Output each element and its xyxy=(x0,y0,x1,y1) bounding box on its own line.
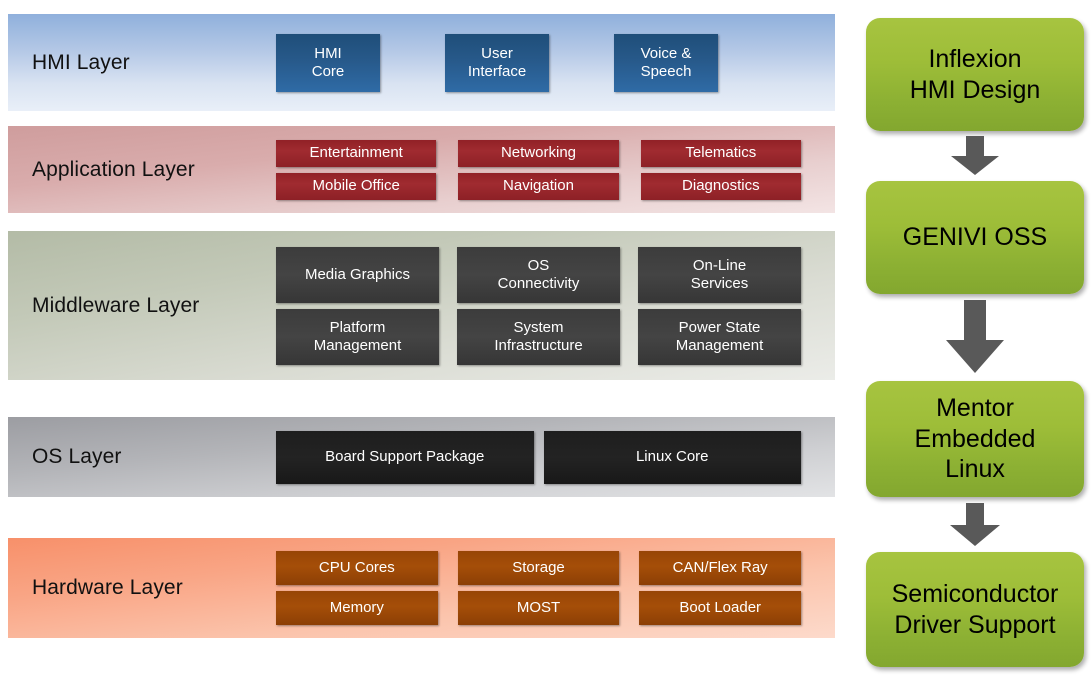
box-row: Board Support Package Linux Core xyxy=(276,431,801,484)
node-label-line1: Voice & xyxy=(641,45,692,62)
layer-panel-os: OS Layer Board Support Package Linux Cor… xyxy=(8,417,835,497)
layer-boxes-hardware: CPU Cores Storage CAN/Flex Ray Memory MO… xyxy=(276,551,835,625)
flow-node-label-line2: HMI Design xyxy=(910,76,1041,104)
node-media-graphics[interactable]: Media Graphics xyxy=(276,247,439,303)
flow-node-semiconductor-driver-support[interactable]: Semiconductor Driver Support xyxy=(866,552,1084,667)
node-telematics[interactable]: Telematics xyxy=(641,140,801,167)
flow-node-label: Mentor Embedded Linux xyxy=(915,393,1036,485)
flow-node-label-line2: Driver Support xyxy=(894,611,1055,639)
node-linux-core[interactable]: Linux Core xyxy=(544,431,802,484)
node-platform-management[interactable]: Platform Management xyxy=(276,309,439,365)
product-flow-column: Inflexion HMI Design GENIVI OSS Mentor E… xyxy=(866,12,1084,674)
layer-title-hardware: Hardware Layer xyxy=(8,576,276,600)
node-label: System Infrastructure xyxy=(494,319,582,354)
node-cpu-cores[interactable]: CPU Cores xyxy=(276,551,438,585)
box-row: Media Graphics OS Connectivity On-Line S… xyxy=(276,247,801,303)
node-can-flex-ray[interactable]: CAN/Flex Ray xyxy=(639,551,801,585)
box-row: Platform Management System Infrastructur… xyxy=(276,309,801,365)
layer-panel-application: Application Layer Entertainment Networki… xyxy=(8,126,835,213)
node-label-line2: Interface xyxy=(468,63,526,80)
node-power-state-management[interactable]: Power State Management xyxy=(638,309,801,365)
node-voice-speech[interactable]: Voice & Speech xyxy=(614,34,718,92)
node-system-infrastructure[interactable]: System Infrastructure xyxy=(457,309,620,365)
node-networking[interactable]: Networking xyxy=(458,140,618,167)
node-navigation[interactable]: Navigation xyxy=(458,173,618,200)
layer-title-os: OS Layer xyxy=(8,445,276,469)
flow-node-label-line1: Mentor xyxy=(936,394,1014,422)
node-online-services[interactable]: On-Line Services xyxy=(638,247,801,303)
flow-node-genivi-oss[interactable]: GENIVI OSS xyxy=(866,181,1084,294)
node-label-line2: Infrastructure xyxy=(494,337,582,354)
node-label-line1: OS xyxy=(528,257,550,274)
node-boot-loader[interactable]: Boot Loader xyxy=(639,591,801,625)
flow-node-label: Inflexion HMI Design xyxy=(910,44,1041,105)
layer-boxes-os: Board Support Package Linux Core xyxy=(276,431,835,484)
flow-node-label: Semiconductor Driver Support xyxy=(892,579,1059,640)
node-label-line1: HMI xyxy=(314,45,342,62)
flow-node-label-line1: Semiconductor xyxy=(892,580,1059,608)
node-label-line1: User xyxy=(481,45,513,62)
box-row: Entertainment Networking Telematics xyxy=(276,140,801,167)
down-arrow-icon xyxy=(866,499,1084,551)
flow-node-label-line2: Embedded xyxy=(915,425,1036,453)
node-label: User Interface xyxy=(468,45,526,80)
node-label: OS Connectivity xyxy=(498,257,580,292)
layer-boxes-middleware: Media Graphics OS Connectivity On-Line S… xyxy=(276,247,835,365)
node-most[interactable]: MOST xyxy=(458,591,620,625)
node-memory[interactable]: Memory xyxy=(276,591,438,625)
box-row: CPU Cores Storage CAN/Flex Ray xyxy=(276,551,801,585)
node-mobile-office[interactable]: Mobile Office xyxy=(276,173,436,200)
node-label-line1: System xyxy=(513,319,563,336)
down-arrow-icon xyxy=(866,295,1084,379)
flow-node-label-line1: GENIVI OSS xyxy=(903,223,1047,251)
node-label: Platform Management xyxy=(314,319,402,354)
node-label-line2: Management xyxy=(314,337,402,354)
node-label-line2: Speech xyxy=(641,63,692,80)
flow-node-label: GENIVI OSS xyxy=(903,222,1047,253)
node-label-line2: Core xyxy=(312,63,345,80)
node-label: Voice & Speech xyxy=(641,45,692,80)
box-row: HMI Core User Interface Voice & Speech xyxy=(276,34,801,92)
node-diagnostics[interactable]: Diagnostics xyxy=(641,173,801,200)
flow-node-mentor-embedded-linux[interactable]: Mentor Embedded Linux xyxy=(866,381,1084,497)
box-row: Memory MOST Boot Loader xyxy=(276,591,801,625)
layer-panel-hmi: HMI Layer HMI Core User Interface xyxy=(8,14,835,111)
node-entertainment[interactable]: Entertainment xyxy=(276,140,436,167)
node-label-line1: Power State xyxy=(679,319,761,336)
node-label-line2: Connectivity xyxy=(498,275,580,292)
layer-panel-middleware: Middleware Layer Media Graphics OS Conne… xyxy=(8,231,835,380)
layer-title-application: Application Layer xyxy=(8,158,276,182)
layer-panel-hardware: Hardware Layer CPU Cores Storage CAN/Fle… xyxy=(8,538,835,638)
layer-boxes-application: Entertainment Networking Telematics Mobi… xyxy=(276,140,835,200)
node-os-connectivity[interactable]: OS Connectivity xyxy=(457,247,620,303)
node-label-line1: On-Line xyxy=(693,257,746,274)
node-label-line1: Media Graphics xyxy=(305,266,410,283)
layer-title-middleware: Middleware Layer xyxy=(8,294,276,318)
flow-node-label-line3: Linux xyxy=(945,455,1005,483)
stack-diagram: HMI Layer HMI Core User Interface xyxy=(0,0,1092,686)
down-arrow-icon xyxy=(866,132,1084,180)
node-label: HMI Core xyxy=(312,45,345,80)
node-board-support-package[interactable]: Board Support Package xyxy=(276,431,534,484)
node-label: On-Line Services xyxy=(691,257,749,292)
node-label-line2: Services xyxy=(691,275,749,292)
node-storage[interactable]: Storage xyxy=(458,551,620,585)
flow-node-label-line1: Inflexion xyxy=(928,45,1021,73)
node-user-interface[interactable]: User Interface xyxy=(445,34,549,92)
layer-boxes-hmi: HMI Core User Interface Voice & Speech xyxy=(276,34,835,92)
node-label: Power State Management xyxy=(676,319,764,354)
node-hmi-core[interactable]: HMI Core xyxy=(276,34,380,92)
node-label-line2: Management xyxy=(676,337,764,354)
node-label: Media Graphics xyxy=(305,266,410,284)
layer-title-hmi: HMI Layer xyxy=(8,51,276,75)
node-label-line1: Platform xyxy=(330,319,386,336)
flow-node-inflexion-hmi-design[interactable]: Inflexion HMI Design xyxy=(866,18,1084,131)
box-row: Mobile Office Navigation Diagnostics xyxy=(276,173,801,200)
